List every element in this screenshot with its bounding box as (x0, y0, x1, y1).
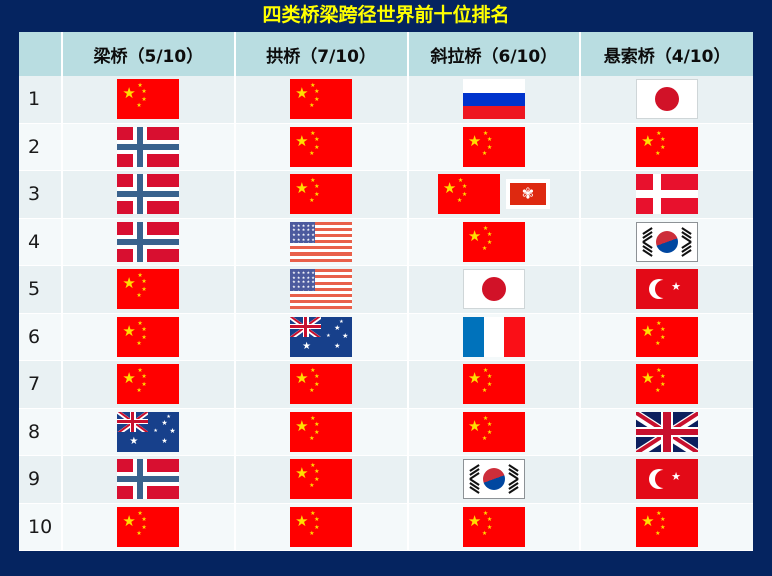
flag-cell-r7-c2: ★★★★★ (235, 361, 408, 409)
flag-group: ★ (581, 266, 753, 313)
flag-group: ★★★★★ (236, 504, 407, 551)
flag-cell-r5-c1: ★★★★★ (62, 266, 235, 314)
flag-russia (463, 79, 525, 119)
flag-group (63, 219, 234, 266)
flag-group: ★★★★★ (63, 266, 234, 313)
table-row: 7★★★★★★★★★★★★★★★★★★★★ (19, 361, 753, 409)
flag-japan (636, 79, 698, 119)
flag-china: ★★★★★ (290, 174, 352, 214)
flag-cell-r10-c3: ★★★★★ (408, 503, 581, 551)
rank-cell: 3 (19, 171, 62, 219)
flag-china: ★★★★★ (463, 364, 525, 404)
flag-norway (117, 222, 179, 262)
table-row: 1★★★★★★★★★★ (19, 76, 753, 123)
flag-group: ★★★★★ (581, 504, 753, 551)
flag-china: ★★★★★ (463, 507, 525, 547)
flag-group (409, 266, 580, 313)
flag-group (581, 409, 753, 456)
flag-turkey: ★ (636, 459, 698, 499)
column-header-suspension-bridge: 悬索桥（4/10） (580, 32, 753, 76)
flag-south-korea (636, 222, 698, 262)
flag-group (581, 76, 753, 123)
flag-china: ★★★★★ (117, 79, 179, 119)
flag-china: ★★★★★ (463, 412, 525, 452)
slide-root: 四类桥梁跨径世界前十位排名 梁桥（5/10） 拱桥（7/10） 斜拉桥（6/10… (0, 0, 772, 576)
flag-china: ★★★★★ (463, 222, 525, 262)
flag-cell-r8-c1: ★★★★★★ (62, 408, 235, 456)
table-row: 4★★★★★★★★★★★★★★★★★★★★★★★★★★★★★★★★★ (19, 218, 753, 266)
flag-china: ★★★★★ (117, 269, 179, 309)
flag-group: ★★★★★ (236, 361, 407, 408)
flag-cell-r5-c3 (408, 266, 581, 314)
flag-group (581, 171, 753, 218)
flag-cell-r5-c4: ★ (580, 266, 753, 314)
flag-group (63, 124, 234, 171)
flag-cell-r4-c1 (62, 218, 235, 266)
ranking-table-container: 梁桥（5/10） 拱桥（7/10） 斜拉桥（6/10） 悬索桥（4/10） 1★… (19, 32, 753, 541)
flag-china: ★★★★★ (290, 459, 352, 499)
flag-cell-r4-c4 (580, 218, 753, 266)
flag-cell-r2-c3: ★★★★★ (408, 123, 581, 171)
flag-cell-r9-c2: ★★★★★ (235, 456, 408, 504)
flag-south-korea (463, 459, 525, 499)
flag-group: ★★★★★★ (63, 409, 234, 456)
column-header-girder-bridge: 梁桥（5/10） (62, 32, 235, 76)
flag-australia: ★★★★★★ (290, 317, 352, 357)
flag-group: ★★★★★ (236, 456, 407, 503)
flag-cell-r2-c2: ★★★★★ (235, 123, 408, 171)
flag-turkey: ★ (636, 269, 698, 309)
rank-cell: 4 (19, 218, 62, 266)
flag-china: ★★★★★ (290, 364, 352, 404)
flag-cell-r10-c1: ★★★★★ (62, 503, 235, 551)
flag-group (409, 456, 580, 503)
flag-group (63, 171, 234, 218)
flag-cell-r9-c3 (408, 456, 581, 504)
flag-cell-r3-c1 (62, 171, 235, 219)
table-row: 5★★★★★★★★★★★★★★★★★★★★★★★★★★★★★★★★★★ (19, 266, 753, 314)
rank-cell: 5 (19, 266, 62, 314)
flag-china: ★★★★★ (290, 412, 352, 452)
flag-france (463, 317, 525, 357)
flag-cell-r6-c1: ★★★★★ (62, 313, 235, 361)
flag-norway (117, 127, 179, 167)
flag-cell-r7-c1: ★★★★★ (62, 361, 235, 409)
rank-cell: 9 (19, 456, 62, 504)
flag-group (409, 76, 580, 123)
flag-cell-r8-c2: ★★★★★ (235, 408, 408, 456)
flag-united-states: ★★★★★★★★★★★★★★★★★★★★★★★★★★★★ (290, 222, 352, 262)
flag-group: ★★★★★ (581, 361, 753, 408)
header-row: 梁桥（5/10） 拱桥（7/10） 斜拉桥（6/10） 悬索桥（4/10） (19, 32, 753, 76)
flag-china: ★★★★★ (438, 174, 500, 214)
flag-group: ★★★★★ (409, 124, 580, 171)
flag-group: ★★★★★ (236, 409, 407, 456)
flag-cell-r2-c1 (62, 123, 235, 171)
table-row: 9★★★★★★ (19, 456, 753, 504)
flag-cell-r6-c2: ★★★★★★ (235, 313, 408, 361)
flag-cell-r1-c3 (408, 76, 581, 123)
flag-cell-r7-c3: ★★★★★ (408, 361, 581, 409)
flag-group: ★★★★★ (236, 171, 407, 218)
flag-group: ★★★★★★ (236, 314, 407, 361)
flag-japan (463, 269, 525, 309)
flag-group (63, 456, 234, 503)
rank-cell: 6 (19, 313, 62, 361)
flag-cell-r7-c4: ★★★★★ (580, 361, 753, 409)
flag-norway (117, 459, 179, 499)
flag-china: ★★★★★ (117, 507, 179, 547)
flag-group: ★★★★★ (581, 314, 753, 361)
flag-china: ★★★★★ (290, 507, 352, 547)
flag-cell-r8-c3: ★★★★★ (408, 408, 581, 456)
flag-group: ★★★★★ (409, 504, 580, 551)
table-row: 2★★★★★★★★★★★★★★★ (19, 123, 753, 171)
flag-cell-r4-c3: ★★★★★ (408, 218, 581, 266)
flag-cell-r6-c4: ★★★★★ (580, 313, 753, 361)
table-row: 10★★★★★★★★★★★★★★★★★★★★ (19, 503, 753, 551)
flag-norway (117, 174, 179, 214)
table-row: 6★★★★★★★★★★★★★★★★ (19, 313, 753, 361)
flag-cell-r5-c2: ★★★★★★★★★★★★★★★★★★★★★★★★★★★★ (235, 266, 408, 314)
flag-united-states: ★★★★★★★★★★★★★★★★★★★★★★★★★★★★ (290, 269, 352, 309)
column-header-cable-stayed-bridge: 斜拉桥（6/10） (408, 32, 581, 76)
flag-cell-r8-c4 (580, 408, 753, 456)
flag-china: ★★★★★ (636, 317, 698, 357)
flag-group: ★★★★★ (409, 219, 580, 266)
flag-cell-r1-c4 (580, 76, 753, 123)
flag-group: ★★★★★ (236, 124, 407, 171)
flag-cell-r4-c2: ★★★★★★★★★★★★★★★★★★★★★★★★★★★★ (235, 218, 408, 266)
column-header-arch-bridge: 拱桥（7/10） (235, 32, 408, 76)
flag-denmark (636, 174, 698, 214)
flag-cell-r3-c3: ★★★★★✾ (408, 171, 581, 219)
flag-china: ★★★★★ (636, 507, 698, 547)
column-header-rank (19, 32, 62, 76)
rank-cell: 7 (19, 361, 62, 409)
flag-group: ★★★★★ (63, 76, 234, 123)
flag-group: ★★★★★ (63, 504, 234, 551)
flag-group: ★★★★★ (581, 124, 753, 171)
flag-china: ★★★★★ (117, 317, 179, 357)
rank-cell: 2 (19, 123, 62, 171)
flag-cell-r2-c4: ★★★★★ (580, 123, 753, 171)
flag-cell-r10-c2: ★★★★★ (235, 503, 408, 551)
flag-china: ★★★★★ (463, 127, 525, 167)
flag-hong-kong: ✾ (506, 179, 550, 209)
table-row: 8★★★★★★★★★★★★★★★★ (19, 408, 753, 456)
flag-cell-r9-c4: ★ (580, 456, 753, 504)
flag-group: ★★★★★★★★★★★★★★★★★★★★★★★★★★★★ (236, 219, 407, 266)
flag-group (409, 314, 580, 361)
flag-australia: ★★★★★★ (117, 412, 179, 452)
flag-group: ★★★★★★★★★★★★★★★★★★★★★★★★★★★★ (236, 266, 407, 313)
flag-china: ★★★★★ (636, 364, 698, 404)
flag-china: ★★★★★ (636, 127, 698, 167)
flag-group: ★★★★★ (409, 361, 580, 408)
table-header: 梁桥（5/10） 拱桥（7/10） 斜拉桥（6/10） 悬索桥（4/10） (19, 32, 753, 76)
flag-cell-r9-c1 (62, 456, 235, 504)
flag-cell-r3-c4 (580, 171, 753, 219)
flag-united-kingdom (636, 412, 698, 452)
flag-china: ★★★★★ (290, 127, 352, 167)
flag-group (581, 219, 753, 266)
flag-group: ★★★★★ (409, 409, 580, 456)
flag-group: ★★★★★✾ (409, 171, 580, 218)
flag-group: ★★★★★ (63, 361, 234, 408)
flag-group: ★★★★★ (63, 314, 234, 361)
flag-cell-r3-c2: ★★★★★ (235, 171, 408, 219)
flag-group: ★ (581, 456, 753, 503)
rank-cell: 8 (19, 408, 62, 456)
flag-cell-r1-c2: ★★★★★ (235, 76, 408, 123)
flag-cell-r1-c1: ★★★★★ (62, 76, 235, 123)
table-row: 3★★★★★★★★★★✾ (19, 171, 753, 219)
rank-cell: 10 (19, 503, 62, 551)
rank-cell: 1 (19, 76, 62, 123)
flag-china: ★★★★★ (117, 364, 179, 404)
flag-group: ★★★★★ (236, 76, 407, 123)
flag-cell-r6-c3 (408, 313, 581, 361)
flag-cell-r10-c4: ★★★★★ (580, 503, 753, 551)
flag-china: ★★★★★ (290, 79, 352, 119)
ranking-table: 梁桥（5/10） 拱桥（7/10） 斜拉桥（6/10） 悬索桥（4/10） 1★… (19, 32, 753, 551)
page-title: 四类桥梁跨径世界前十位排名 (0, 4, 772, 26)
table-body: 1★★★★★★★★★★2★★★★★★★★★★★★★★★3★★★★★★★★★★✾4… (19, 76, 753, 551)
